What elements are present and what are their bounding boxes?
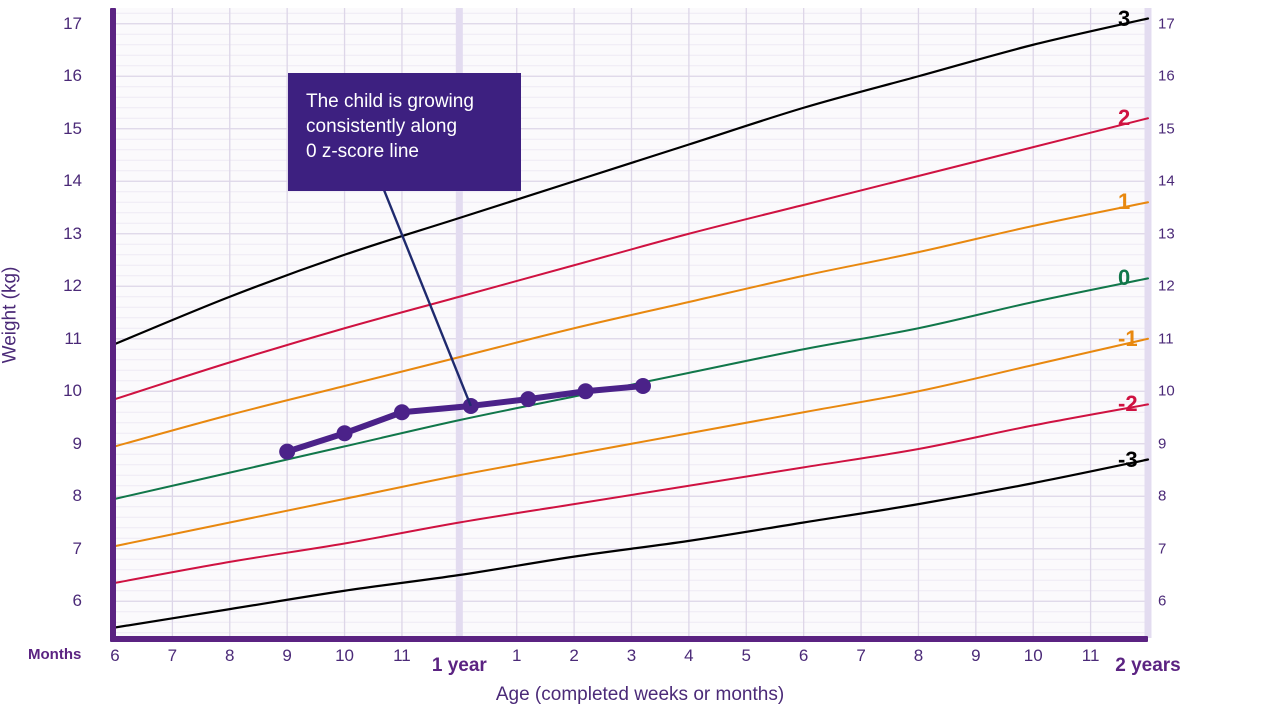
annotation-callout: The child is growing consistently along … [288,73,521,191]
annotation-leader-line [0,0,1280,720]
annotation-line-3: 0 z-score line [306,139,503,164]
growth-chart-page: 67891011121314151617 6789101112131415161… [0,0,1280,720]
annotation-line-2: consistently along [306,114,503,139]
annotation-line-1: The child is growing [306,89,503,114]
